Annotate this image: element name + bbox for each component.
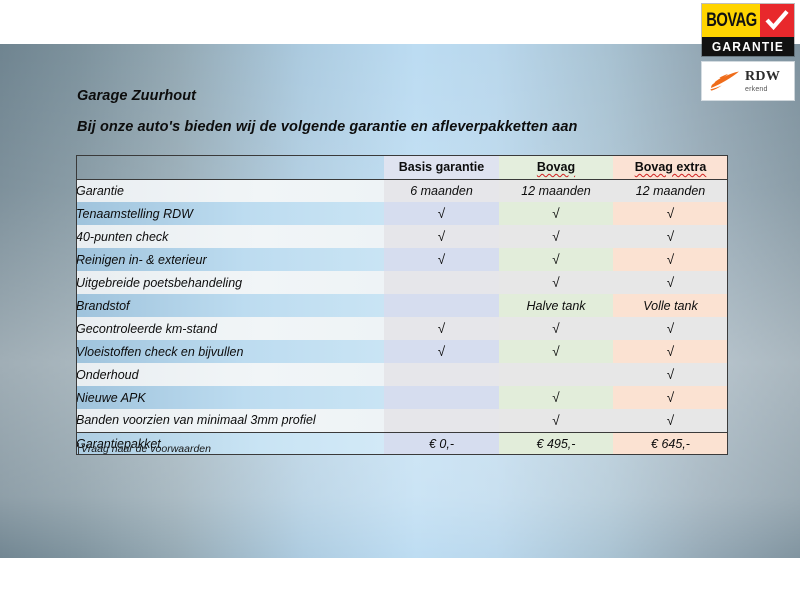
slide-top-band <box>0 0 800 44</box>
bovag-garantie-label: GARANTIE <box>712 40 784 53</box>
bovag-yellow-panel: BOVAG <box>702 4 760 37</box>
row-label: Vloeistoffen check en bijvullen <box>76 340 384 363</box>
cell-extra: √ <box>613 202 728 225</box>
table-row: 40-punten check√√√ <box>76 225 728 248</box>
bovag-wordmark: BOVAG <box>706 11 757 31</box>
cell-extra: √ <box>613 340 728 363</box>
column-header-bovag-extra-text: Bovag extra <box>635 160 707 174</box>
bovag-logo-top: BOVAG <box>702 4 794 37</box>
rdw-logo: RDW erkend <box>702 62 794 100</box>
cell-extra: √ <box>613 363 728 386</box>
row-label: Reinigen in- & exterieur <box>76 248 384 271</box>
column-header-basis: Basis garantie <box>384 155 499 179</box>
row-label: Garantie <box>76 179 384 202</box>
bovag-black-panel: GARANTIE <box>702 37 794 56</box>
row-label: 40-punten check <box>76 225 384 248</box>
cell-bovag: √ <box>499 248 613 271</box>
check-icon <box>765 9 789 31</box>
cell-bovag: √ <box>499 409 613 432</box>
cell-bovag: √ <box>499 202 613 225</box>
table-row: Tenaamstelling RDW√√√ <box>76 202 728 225</box>
row-label: Onderhoud <box>76 363 384 386</box>
table-header-row: Basis garantie Bovag Bovag extra <box>76 155 728 179</box>
table-row: Reinigen in- & exterieur√√√ <box>76 248 728 271</box>
cell-basis <box>384 294 499 317</box>
table-row: Gecontroleerde km-stand√√√ <box>76 317 728 340</box>
cell-extra: √ <box>613 409 728 432</box>
column-header-bovag-extra: Bovag extra <box>613 155 728 179</box>
cell-basis: € 0,- <box>384 432 499 455</box>
cell-basis <box>384 363 499 386</box>
garantie-table-wrap: Basis garantie Bovag Bovag extra Garanti… <box>76 155 728 455</box>
cell-basis: 6 maanden <box>384 179 499 202</box>
cell-bovag: € 495,- <box>499 432 613 455</box>
cell-extra: Volle tank <box>613 294 728 317</box>
cell-bovag: 12 maanden <box>499 179 613 202</box>
rdw-wordmark: RDW <box>745 70 780 84</box>
row-label: Nieuwe APK <box>76 386 384 409</box>
cell-extra: € 645,- <box>613 432 728 455</box>
cell-bovag: √ <box>499 340 613 363</box>
table-body: Garantie6 maanden12 maanden12 maandenTen… <box>76 179 728 455</box>
cell-basis <box>384 409 499 432</box>
cell-bovag: Halve tank <box>499 294 613 317</box>
slide-canvas: BOVAG GARANTIE <box>0 0 800 600</box>
rdw-text-block: RDW erkend <box>745 70 780 93</box>
rdw-feather-icon <box>708 68 742 94</box>
rdw-erkend-label: erkend <box>745 86 780 93</box>
table-row: BrandstofHalve tankVolle tank <box>76 294 728 317</box>
column-header-bovag-text: Bovag <box>537 160 575 174</box>
cell-basis: √ <box>384 248 499 271</box>
cell-basis: √ <box>384 202 499 225</box>
footnote: Vraag naar de voorwaarden <box>78 443 211 455</box>
row-label: Brandstof <box>76 294 384 317</box>
cell-bovag: √ <box>499 225 613 248</box>
page-title: Bij onze auto's bieden wij de volgende g… <box>77 119 577 135</box>
bovag-red-panel <box>760 4 794 37</box>
table-row: Garantie6 maanden12 maanden12 maanden <box>76 179 728 202</box>
cell-extra: 12 maanden <box>613 179 728 202</box>
cell-extra: √ <box>613 225 728 248</box>
logo-group: BOVAG GARANTIE <box>702 4 794 100</box>
row-label: Banden voorzien van minimaal 3mm profiel <box>76 409 384 432</box>
cell-bovag: √ <box>499 386 613 409</box>
table-row: Onderhoud√ <box>76 363 728 386</box>
cell-basis <box>384 386 499 409</box>
column-header-bovag: Bovag <box>499 155 613 179</box>
company-name: Garage Zuurhout <box>77 88 196 104</box>
cell-extra: √ <box>613 271 728 294</box>
cell-basis: √ <box>384 225 499 248</box>
cell-bovag: √ <box>499 317 613 340</box>
table-row: Banden voorzien van minimaal 3mm profiel… <box>76 409 728 432</box>
slide-bottom-band <box>0 558 800 600</box>
row-label: Gecontroleerde km-stand <box>76 317 384 340</box>
cell-basis <box>384 271 499 294</box>
cell-extra: √ <box>613 386 728 409</box>
table-row: Uitgebreide poetsbehandeling√√ <box>76 271 728 294</box>
row-label: Tenaamstelling RDW <box>76 202 384 225</box>
cell-basis: √ <box>384 317 499 340</box>
column-header-basis-text: Basis garantie <box>399 160 484 174</box>
cell-bovag <box>499 363 613 386</box>
table-row: Vloeistoffen check en bijvullen√√√ <box>76 340 728 363</box>
cell-extra: √ <box>613 317 728 340</box>
column-header-label <box>76 155 384 179</box>
cell-bovag: √ <box>499 271 613 294</box>
garantie-table: Basis garantie Bovag Bovag extra Garanti… <box>76 155 728 455</box>
table-row: Nieuwe APK√√ <box>76 386 728 409</box>
bovag-logo: BOVAG GARANTIE <box>702 4 794 56</box>
cell-basis: √ <box>384 340 499 363</box>
cell-extra: √ <box>613 248 728 271</box>
row-label: Uitgebreide poetsbehandeling <box>76 271 384 294</box>
